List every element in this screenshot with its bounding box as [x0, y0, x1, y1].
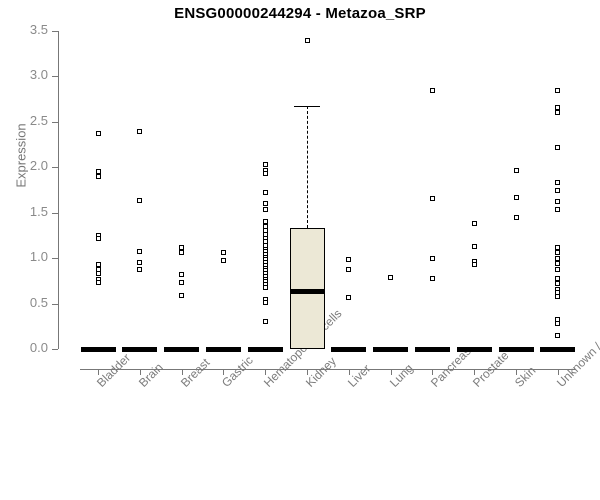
data-point — [514, 195, 519, 200]
box-plot-box — [540, 347, 575, 352]
y-tick-mark — [52, 213, 58, 214]
y-tick-label: 3.0 — [8, 67, 48, 82]
data-point — [555, 333, 560, 338]
upper-whisker — [307, 106, 308, 229]
data-point — [514, 168, 519, 173]
x-tick-label-lung: Lung — [387, 361, 416, 390]
data-point — [555, 250, 560, 255]
data-point — [472, 221, 477, 226]
data-point — [96, 131, 101, 136]
data-point — [555, 88, 560, 93]
data-point — [472, 262, 477, 267]
x-tick-label-brain: Brain — [136, 360, 166, 390]
box-plot-box — [415, 347, 450, 352]
data-point — [96, 236, 101, 241]
y-tick-mark — [52, 349, 58, 350]
y-tick-label: 1.0 — [8, 249, 48, 264]
x-tick-label-bladder: Bladder — [94, 351, 133, 390]
y-tick-label: 1.5 — [8, 204, 48, 219]
data-point — [555, 207, 560, 212]
x-tick-label-kidney: Kidney — [303, 354, 339, 390]
data-point — [555, 276, 560, 281]
box-plot-box — [248, 347, 283, 352]
data-point — [263, 285, 268, 290]
data-point — [555, 321, 560, 326]
x-tick-label-liver: Liver — [345, 362, 373, 390]
data-point — [96, 262, 101, 267]
box-plot-box — [122, 347, 157, 352]
data-point — [179, 250, 184, 255]
data-point — [555, 199, 560, 204]
y-tick-label: 0.5 — [8, 295, 48, 310]
data-point — [179, 280, 184, 285]
data-point — [555, 256, 560, 261]
data-point — [555, 267, 560, 272]
data-point — [221, 258, 226, 263]
y-tick-mark — [52, 76, 58, 77]
data-point — [514, 215, 519, 220]
data-point — [263, 319, 268, 324]
y-tick-label: 0.0 — [8, 340, 48, 355]
data-point — [137, 260, 142, 265]
data-point — [555, 261, 560, 266]
data-point — [137, 129, 142, 134]
data-point — [555, 110, 560, 115]
data-point — [96, 271, 101, 276]
data-point — [96, 280, 101, 285]
data-point — [555, 294, 560, 299]
y-tick-mark — [52, 304, 58, 305]
data-point — [263, 300, 268, 305]
data-point — [137, 249, 142, 254]
y-tick-label: 2.0 — [8, 158, 48, 173]
upper-whisker-cap — [294, 106, 320, 108]
y-tick-label: 2.5 — [8, 113, 48, 128]
data-point — [263, 171, 268, 176]
box-plot-box — [81, 347, 116, 352]
data-point — [137, 267, 142, 272]
data-point — [430, 88, 435, 93]
box-plot-box — [164, 347, 199, 352]
y-axis-line — [58, 31, 59, 349]
data-point — [305, 38, 310, 43]
chart-title: ENSG00000244294 - Metazoa_SRP — [0, 5, 600, 22]
y-tick-label: 3.5 — [8, 22, 48, 37]
y-tick-mark — [52, 122, 58, 123]
data-point — [555, 281, 560, 286]
data-point — [555, 245, 560, 250]
data-point — [263, 201, 268, 206]
data-point — [430, 276, 435, 281]
box-plot-box — [499, 347, 534, 352]
x-tick-label-gastric: Gastric — [219, 353, 256, 390]
y-tick-mark — [52, 258, 58, 259]
data-point — [472, 244, 477, 249]
data-point — [430, 196, 435, 201]
box-plot-box — [206, 347, 241, 352]
box-plot-box — [457, 347, 492, 352]
y-tick-mark — [52, 167, 58, 168]
box-plot-box — [373, 347, 408, 352]
data-point — [179, 272, 184, 277]
data-point — [179, 245, 184, 250]
data-point — [555, 188, 560, 193]
box-plot-box — [331, 347, 366, 352]
x-tick-label-unknown-other: Unknown / Other — [554, 316, 600, 390]
data-point — [388, 275, 393, 280]
x-tick-label-skin: Skin — [512, 363, 538, 389]
x-tick-label-breast: Breast — [178, 355, 212, 389]
median-line — [290, 289, 325, 294]
data-point — [263, 190, 268, 195]
data-point — [555, 145, 560, 150]
data-point — [346, 257, 351, 262]
data-point — [96, 174, 101, 179]
data-point — [221, 250, 226, 255]
data-point — [137, 198, 142, 203]
data-point — [555, 180, 560, 185]
data-point — [263, 207, 268, 212]
boxplot-chart: ENSG00000244294 - Metazoa_SRP Expression… — [0, 0, 600, 500]
y-tick-mark — [52, 31, 58, 32]
data-point — [263, 162, 268, 167]
data-point — [346, 267, 351, 272]
data-point — [179, 293, 184, 298]
data-point — [430, 256, 435, 261]
data-point — [346, 295, 351, 300]
data-point — [555, 105, 560, 110]
